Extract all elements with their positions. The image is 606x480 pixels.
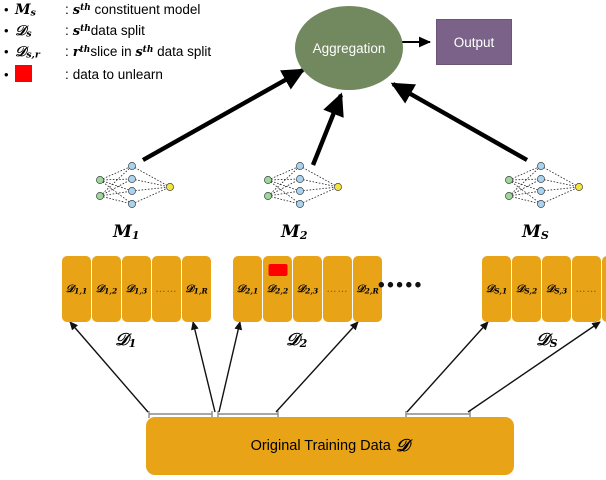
- data-slice[interactable]: 𝒟1,R: [182, 256, 211, 322]
- arrow-data-to-split1-right: [193, 322, 215, 412]
- legend-item-model: • Ms : sth constituent model: [4, 2, 272, 23]
- data-slice-ellipsis: ……: [152, 256, 181, 322]
- data-slice[interactable]: 𝒟S,R: [602, 256, 606, 322]
- data-slice[interactable]: 𝒟S,1: [482, 256, 511, 322]
- legend-symbol-subscript: s,r: [26, 50, 40, 61]
- aggregation-label: Aggregation: [313, 41, 386, 56]
- neural-network-icon: [497, 158, 593, 220]
- arrow-data-to-split1-left: [70, 322, 148, 412]
- bullet-icon: •: [4, 68, 15, 81]
- data-slice[interactable]: 𝒟1,2: [92, 256, 121, 322]
- split-group-2: 𝒟2,1 𝒟2,2 𝒟2,3 …… 𝒟2,R: [233, 256, 382, 322]
- model-s-label: MS: [522, 222, 549, 242]
- output-label: Output: [454, 35, 495, 50]
- data-slice-unlearn[interactable]: 𝒟2,2: [263, 256, 292, 322]
- legend-desc-data-split: sthdata split: [73, 23, 145, 39]
- training-data-label: Original Training Data: [251, 438, 391, 454]
- legend-symbol-text: 𝒟: [15, 44, 26, 60]
- legend-symbol-subscript: s: [31, 8, 36, 19]
- legend-symbol-text: 𝒟: [15, 23, 26, 39]
- legend-desc-slice: rthslice in sth data split: [73, 44, 211, 60]
- data-slice-ellipsis: ……: [323, 256, 352, 322]
- data-slice[interactable]: 𝒟2,3: [293, 256, 322, 322]
- legend-symbol-model: Ms: [15, 2, 61, 19]
- neural-network-icon: [256, 158, 352, 220]
- legend-symbol-text: M: [15, 2, 31, 18]
- legend-symbol-slice: 𝒟s,r: [15, 44, 61, 61]
- legend-desc-unlearn: data to unlearn: [73, 67, 163, 82]
- legend-item-unlearn: • : data to unlearn: [4, 65, 272, 86]
- split-group-2-label: 𝒟2: [286, 330, 307, 350]
- legend: • Ms : sth constituent model • 𝒟s : sthd…: [4, 2, 272, 86]
- data-slice[interactable]: 𝒟1,1: [62, 256, 91, 322]
- legend-symbol-data-split: 𝒟s: [15, 23, 61, 40]
- diagram-canvas: • Ms : sth constituent model • 𝒟s : sthd…: [0, 0, 606, 480]
- legend-symbol-unlearn: [15, 65, 61, 82]
- data-slice[interactable]: 𝒟1,3: [122, 256, 151, 322]
- legend-symbol-subscript: s: [26, 29, 31, 40]
- arrow-modelS-to-aggregation: [393, 84, 527, 160]
- training-data-symbol: 𝒟: [391, 436, 410, 456]
- model-1-label: M1: [113, 222, 139, 242]
- neural-network-icon: [88, 158, 184, 220]
- legend-item-data-split: • 𝒟s : sthdata split: [4, 23, 272, 44]
- bullet-icon: •: [4, 3, 15, 16]
- original-training-data-box[interactable]: Original Training Data 𝒟: [146, 417, 514, 475]
- unlearn-marker-icon: [268, 264, 287, 276]
- legend-desc-model: sth constituent model: [73, 2, 201, 18]
- split-group-s-label: 𝒟S: [536, 330, 558, 350]
- model-2-label: M2: [281, 222, 307, 242]
- legend-colon: :: [61, 44, 73, 59]
- unlearn-swatch-icon: [15, 65, 32, 82]
- split-group-s: 𝒟S,1 𝒟S,2 𝒟S,3 …… 𝒟S,R: [482, 256, 606, 322]
- arrow-data-to-splitS-left: [407, 322, 488, 412]
- legend-colon: :: [61, 23, 73, 38]
- arrow-data-to-split2-left: [219, 322, 240, 412]
- data-slice[interactable]: 𝒟2,1: [233, 256, 262, 322]
- data-slice[interactable]: 𝒟S,2: [512, 256, 541, 322]
- data-slice[interactable]: 𝒟S,3: [542, 256, 571, 322]
- arrow-model2-to-aggregation: [313, 95, 341, 165]
- bullet-icon: •: [4, 24, 15, 37]
- legend-colon: :: [61, 2, 73, 17]
- legend-item-slice: • 𝒟s,r : rthslice in sth data split: [4, 44, 272, 65]
- legend-colon: :: [61, 67, 73, 82]
- group-ellipsis: •••••: [378, 275, 424, 297]
- split-group-1-label: 𝒟1: [115, 330, 136, 350]
- arrow-data-to-splitS-right: [468, 322, 600, 412]
- bullet-icon: •: [4, 45, 15, 58]
- data-slice-ellipsis: ……: [572, 256, 601, 322]
- split-group-1: 𝒟1,1 𝒟1,2 𝒟1,3 …… 𝒟1,R: [62, 256, 211, 322]
- output-node[interactable]: Output: [436, 19, 512, 65]
- aggregation-node[interactable]: Aggregation: [295, 6, 403, 90]
